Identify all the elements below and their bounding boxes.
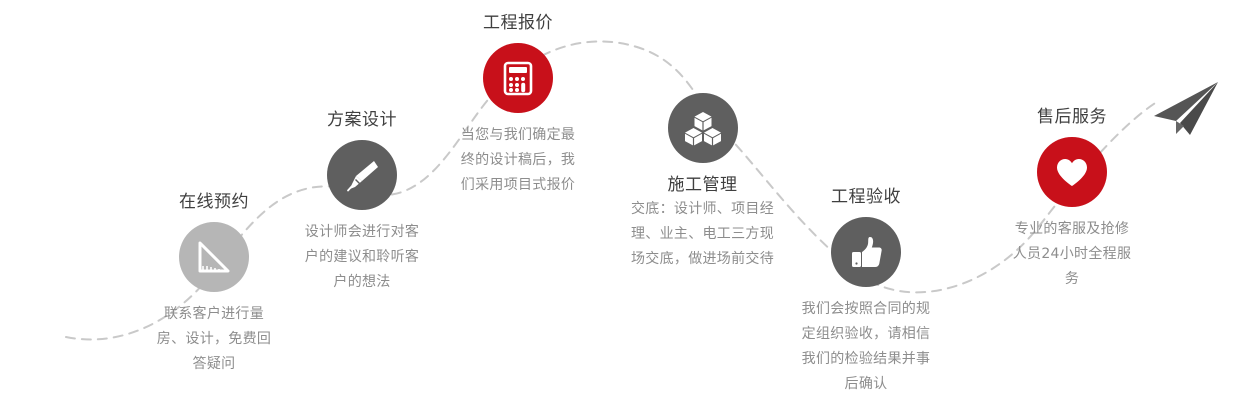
flow-step-project-acceptance[interactable]: 工程验收 我们会按照合同的规 定组织验收，请相信 我们的检验结果并事 后确认 bbox=[771, 185, 961, 397]
desc-line: 房、设计，免费回 bbox=[119, 327, 309, 352]
step-description: 专业的客服及抢修 人员24小时全程服 务 bbox=[977, 217, 1167, 292]
desc-line: 我们的检验结果并事 bbox=[771, 347, 961, 372]
desc-line: 们采用项目式报价 bbox=[423, 173, 613, 198]
step-icon-wrap[interactable] bbox=[595, 93, 810, 163]
step-title: 售后服务 bbox=[977, 105, 1167, 129]
fountain-pen-icon[interactable] bbox=[327, 140, 397, 210]
step-icon-wrap[interactable] bbox=[771, 217, 961, 287]
step-description: 当您与我们确定最 终的设计稿后，我 们采用项目式报价 bbox=[423, 123, 613, 198]
desc-line: 定组织验收，请相信 bbox=[771, 322, 961, 347]
blocks-icon[interactable] bbox=[668, 93, 738, 163]
desc-line: 人员24小时全程服 bbox=[977, 242, 1167, 267]
desc-line: 后确认 bbox=[771, 372, 961, 397]
calculator-icon[interactable] bbox=[483, 43, 553, 113]
flow-step-project-quotation[interactable]: 工程报价 当您与我们确定最 终的设计稿后， bbox=[423, 11, 613, 198]
desc-line: 户的建议和聆听客 bbox=[267, 245, 457, 270]
step-description: 我们会按照合同的规 定组织验收，请相信 我们的检验结果并事 后确认 bbox=[771, 297, 961, 397]
desc-line: 务 bbox=[977, 267, 1167, 292]
flow-step-after-sales-service[interactable]: 售后服务 专业的客服及抢修 人员24小时全程服 务 bbox=[977, 105, 1167, 292]
desc-line: 答疑问 bbox=[119, 352, 309, 377]
desc-line: 设计师会进行对客 bbox=[267, 220, 457, 245]
step-title: 工程验收 bbox=[771, 185, 961, 209]
step-title: 工程报价 bbox=[423, 11, 613, 35]
desc-line: 我们会按照合同的规 bbox=[771, 297, 961, 322]
desc-line: 联系客户进行量 bbox=[119, 302, 309, 327]
desc-line: 终的设计稿后，我 bbox=[423, 148, 613, 173]
thumbs-up-icon[interactable] bbox=[831, 217, 901, 287]
triangle-ruler-icon[interactable] bbox=[179, 222, 249, 292]
heart-icon[interactable] bbox=[1037, 137, 1107, 207]
desc-line: 当您与我们确定最 bbox=[423, 123, 613, 148]
step-icon-wrap[interactable] bbox=[423, 43, 613, 113]
desc-line: 专业的客服及抢修 bbox=[977, 217, 1167, 242]
step-icon-wrap[interactable] bbox=[977, 137, 1167, 207]
paper-plane-icon bbox=[1146, 78, 1232, 144]
service-flow-diagram: 在线预约 联系客户进行量 房、设计，免费回 答疑问 方案设计 bbox=[0, 0, 1245, 402]
step-description: 联系客户进行量 房、设计，免费回 答疑问 bbox=[119, 302, 309, 377]
desc-line: 户的想法 bbox=[267, 270, 457, 295]
step-description: 设计师会进行对客 户的建议和聆听客 户的想法 bbox=[267, 220, 457, 295]
